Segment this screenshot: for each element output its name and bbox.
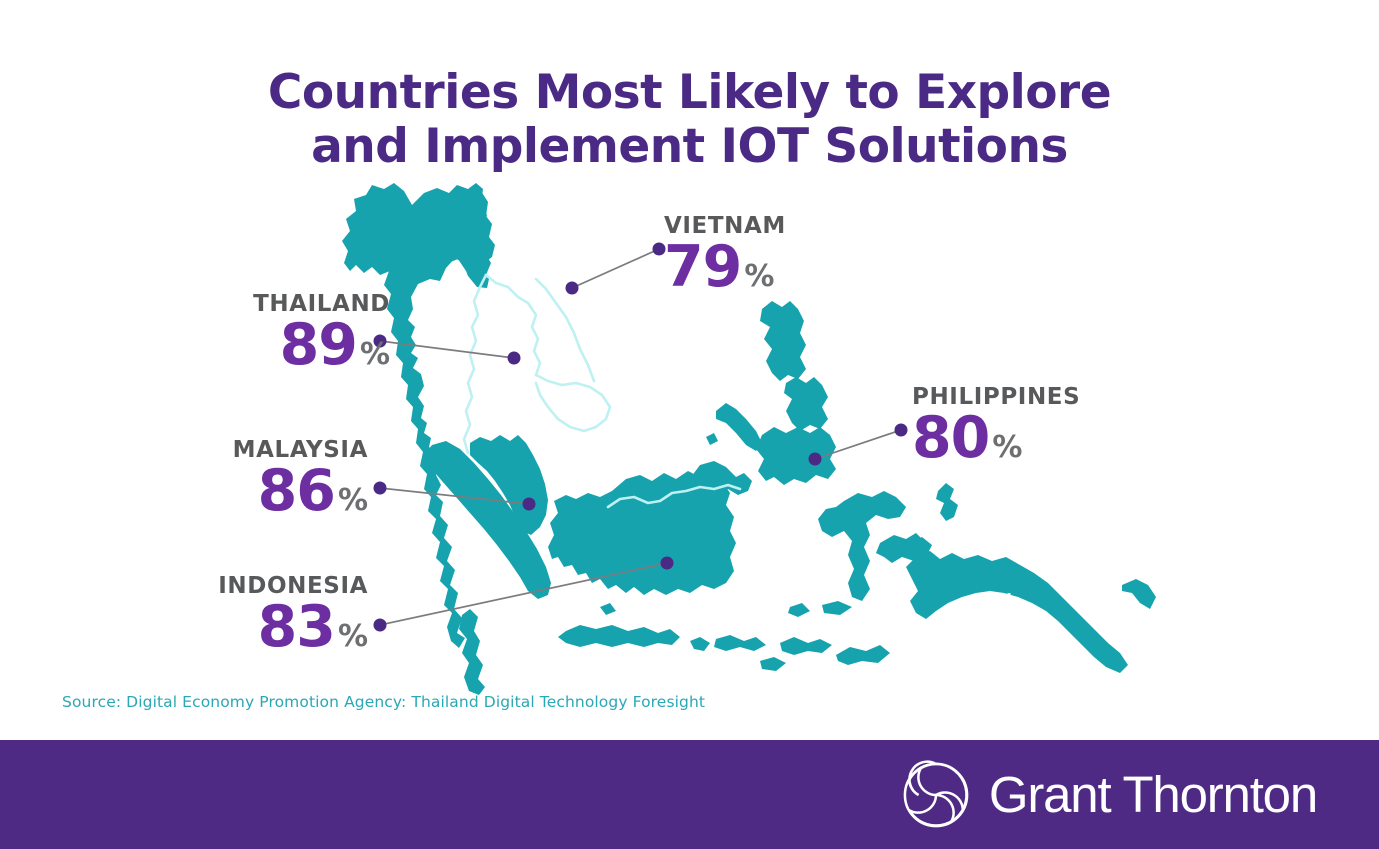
small-isle-d bbox=[600, 603, 616, 615]
philippines-palawan bbox=[716, 403, 762, 451]
callout-number-thailand: 89 bbox=[280, 317, 357, 374]
lesser-sunda-flores bbox=[780, 637, 832, 655]
connector-dot-malaysia-label bbox=[374, 482, 387, 495]
java bbox=[558, 625, 680, 647]
connector-dot-indonesia-map bbox=[661, 557, 674, 570]
callout-value-vietnam: 79 % bbox=[664, 239, 786, 296]
callout-number-philippines: 80 bbox=[912, 410, 989, 467]
callout-malaysia: MALAYSIA 86 % bbox=[90, 437, 368, 520]
callout-percent-indonesia: % bbox=[338, 622, 368, 652]
callout-vietnam: VIETNAM 79 % bbox=[664, 213, 786, 296]
borneo-north-lobe bbox=[690, 461, 752, 495]
infographic-canvas: Countries Most Likely to Explore and Imp… bbox=[0, 0, 1379, 849]
malay-peninsula-north bbox=[459, 609, 485, 695]
myanmar bbox=[342, 183, 491, 279]
grant-thornton-swirl-icon bbox=[899, 758, 973, 832]
callout-thailand: THAILAND 89 % bbox=[102, 291, 390, 374]
brand-name: Grant Thornton bbox=[989, 765, 1317, 824]
small-isle-a bbox=[706, 433, 718, 445]
connector-dot-philippines-map bbox=[809, 453, 822, 466]
connector-dot-vietnam-map bbox=[566, 282, 579, 295]
callout-number-indonesia: 83 bbox=[258, 599, 335, 656]
title-line-2: and Implement IOT Solutions bbox=[0, 120, 1379, 174]
page-title: Countries Most Likely to Explore and Imp… bbox=[0, 66, 1379, 174]
source-note: Source: Digital Economy Promotion Agency… bbox=[62, 693, 705, 711]
callout-value-thailand: 89 % bbox=[102, 317, 390, 374]
lesser-sunda-timor bbox=[836, 645, 890, 665]
bismarck-arc-island bbox=[1122, 579, 1156, 609]
connector-dot-philippines-label bbox=[895, 424, 908, 437]
callout-percent-malaysia: % bbox=[338, 486, 368, 516]
connector-dot-thailand-map bbox=[508, 352, 521, 365]
small-isle-b bbox=[788, 603, 810, 617]
callout-number-malaysia: 86 bbox=[258, 463, 335, 520]
connector-dot-indonesia-label bbox=[374, 619, 387, 632]
small-isle-c bbox=[822, 601, 852, 615]
callout-value-philippines: 80 % bbox=[912, 410, 1080, 467]
callout-percent-thailand: % bbox=[360, 340, 390, 370]
title-line-1: Countries Most Likely to Explore bbox=[268, 65, 1111, 120]
connector-vietnam bbox=[572, 249, 659, 288]
border-myanmar-thailand bbox=[464, 275, 486, 453]
lesser-sunda-lombok-sumbawa bbox=[714, 635, 766, 651]
philippines-luzon bbox=[760, 301, 806, 381]
callout-value-indonesia: 83 % bbox=[90, 599, 368, 656]
callout-value-malaysia: 86 % bbox=[90, 463, 368, 520]
philippines-visayas bbox=[784, 377, 828, 431]
sumba bbox=[760, 657, 786, 671]
callout-philippines: PHILIPPINES 80 % bbox=[912, 384, 1080, 467]
callout-number-vietnam: 79 bbox=[664, 239, 741, 296]
new-guinea bbox=[906, 551, 1128, 673]
callout-percent-philippines: % bbox=[992, 433, 1022, 463]
borneo bbox=[548, 471, 736, 595]
footer-bar: Grant Thornton bbox=[0, 740, 1379, 849]
brand-lockup: Grant Thornton bbox=[899, 758, 1317, 832]
halmahera bbox=[936, 483, 958, 521]
callout-percent-vietnam: % bbox=[744, 262, 774, 292]
lesser-sunda-bali bbox=[690, 637, 710, 651]
callout-indonesia: INDONESIA 83 % bbox=[90, 573, 368, 656]
border-thailand-cambodia bbox=[536, 375, 610, 431]
border-laos-vietnam bbox=[536, 279, 594, 381]
connector-dot-malaysia-map bbox=[523, 498, 536, 511]
